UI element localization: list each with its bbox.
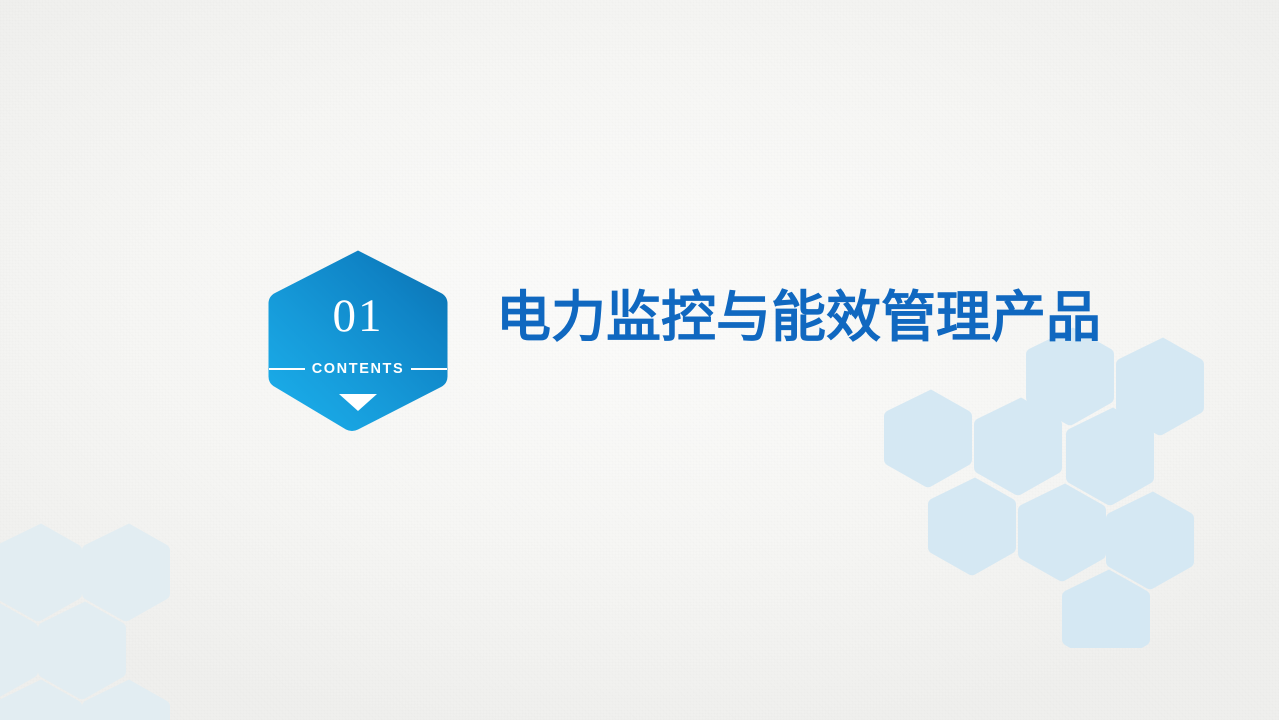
badge-rule-right [411, 368, 447, 370]
badge-contents-row: CONTENTS [267, 361, 449, 377]
triangle-down-icon [339, 394, 377, 411]
page-title: 电力监控与能效管理产品 [496, 288, 1101, 347]
presentation-slide: 01 CONTENTS 电力监控与能效管理产品 [0, 0, 1279, 720]
badge-rule-left [269, 368, 305, 370]
badge-number: 01 [267, 293, 449, 340]
badge-contents-label: CONTENTS [305, 361, 412, 377]
section-number-badge[interactable]: 01 CONTENTS [267, 249, 449, 431]
honeycomb-decoration-right [860, 318, 1279, 648]
honeycomb-decoration-left [0, 512, 270, 720]
paper-texture-overlay [0, 0, 1279, 720]
